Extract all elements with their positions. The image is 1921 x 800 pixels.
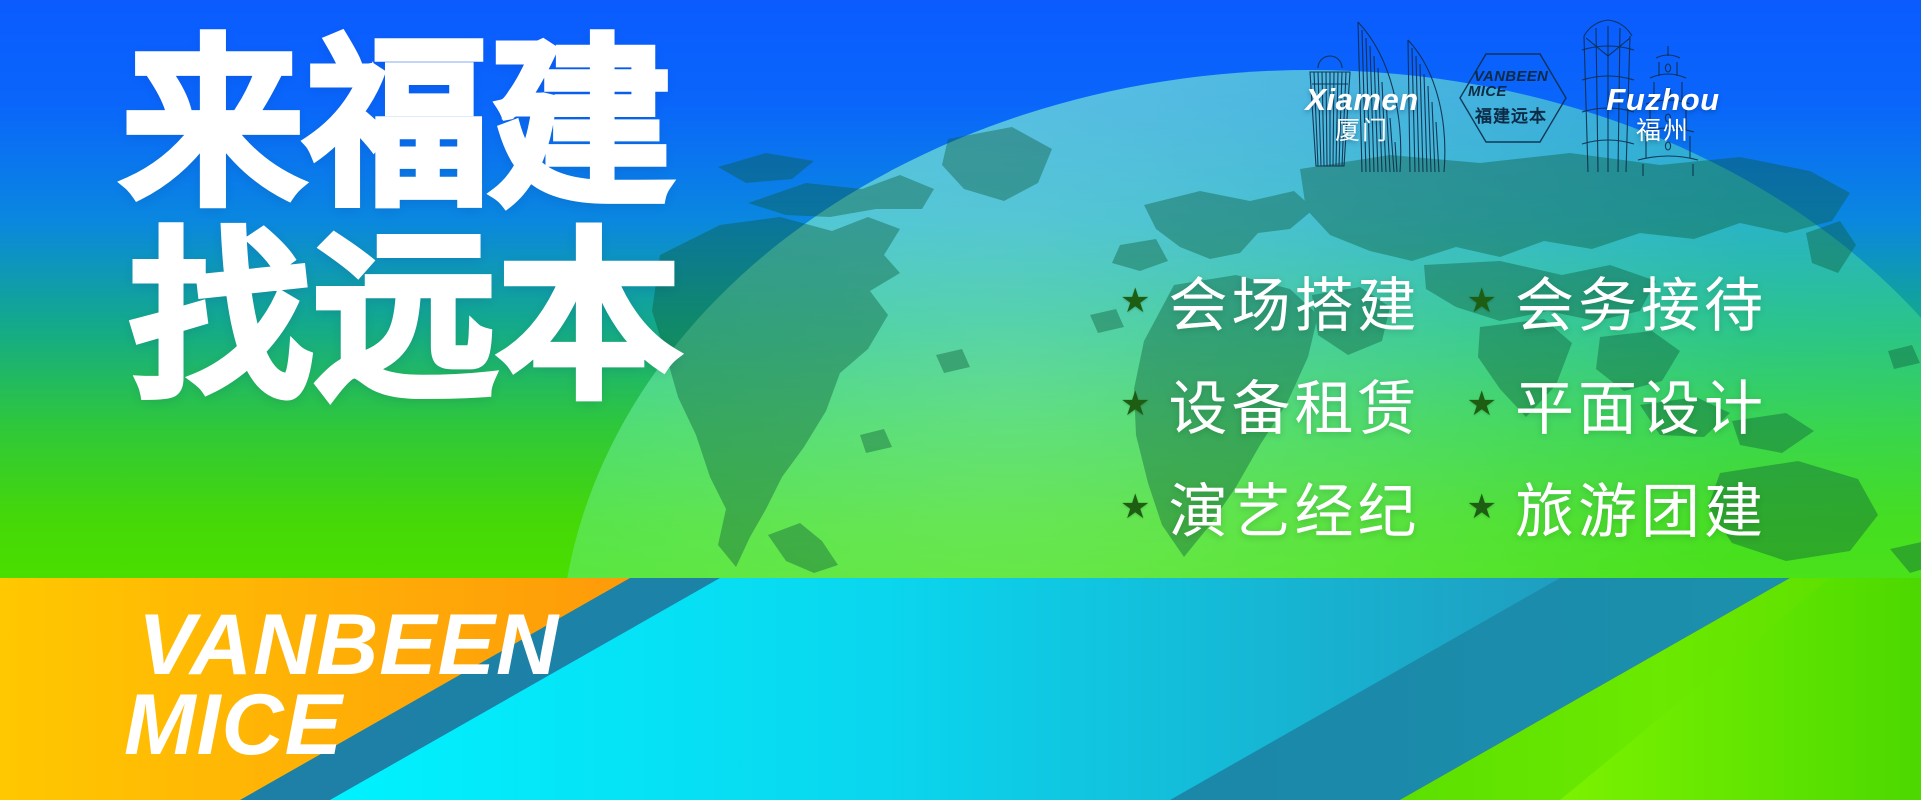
city-label-fuzhou: Fuzhou 福州	[1568, 84, 1758, 143]
footer-brand-line-1: VANBEEN	[138, 606, 559, 686]
city-name-cn: 厦门	[1272, 118, 1452, 144]
star-icon: ★	[1467, 387, 1497, 421]
star-icon: ★	[1467, 490, 1497, 524]
promotional-banner: 来福建 找远本 ★ 会场搭建 ★ 会务接待 ★ 设备租赁 ★ 平面设计 ★	[0, 0, 1921, 800]
city-name-cn: 福州	[1568, 118, 1758, 144]
banner-top-section: 来福建 找远本 ★ 会场搭建 ★ 会务接待 ★ 设备租赁 ★ 平面设计 ★	[0, 0, 1921, 578]
headline: 来福建 找远本	[122, 38, 682, 405]
city-landmark-bar: Xiamen 厦门 Fuzhou 福州 VANBEEN MICE 福建远本	[1300, 6, 1720, 176]
service-item[interactable]: ★ 会场搭建	[1120, 258, 1421, 343]
service-item[interactable]: ★ 演艺经纪	[1120, 464, 1421, 549]
service-label: 设备租赁	[1168, 361, 1420, 446]
service-label: 演艺经纪	[1168, 464, 1420, 549]
headline-line-1: 来福建	[122, 38, 682, 213]
star-icon: ★	[1467, 284, 1497, 318]
star-icon: ★	[1120, 387, 1150, 421]
headline-line-2: 找远本	[130, 231, 682, 406]
city-name-en: Xiamen	[1272, 84, 1452, 116]
service-label: 旅游团建	[1515, 464, 1767, 549]
service-item[interactable]: ★ 会务接待	[1467, 258, 1768, 343]
city-name-en: Fuzhou	[1568, 84, 1758, 116]
service-item[interactable]: ★ 平面设计	[1467, 361, 1768, 446]
service-item[interactable]: ★ 设备租赁	[1120, 361, 1421, 446]
services-list: ★ 会场搭建 ★ 会务接待 ★ 设备租赁 ★ 平面设计 ★ 演艺经纪 ★ 旅游团…	[1120, 258, 1767, 549]
banner-footer-band: VANBEEN MICE	[0, 578, 1921, 800]
city-label-xiamen: Xiamen 厦门	[1272, 84, 1452, 143]
service-item[interactable]: ★ 旅游团建	[1467, 464, 1768, 549]
hex-logo-line-3: 福建远本	[1475, 102, 1547, 127]
service-label: 平面设计	[1515, 361, 1767, 446]
hex-logo-line-1: VANBEEN	[1474, 69, 1548, 84]
footer-brand: VANBEEN MICE	[138, 606, 559, 766]
star-icon: ★	[1120, 284, 1150, 318]
star-icon: ★	[1120, 490, 1150, 524]
hexagon-logo[interactable]: VANBEEN MICE 福建远本	[1452, 50, 1570, 146]
service-label: 会场搭建	[1168, 258, 1420, 343]
service-label: 会务接待	[1515, 258, 1767, 343]
hex-logo-line-2: MICE	[1468, 84, 1507, 99]
footer-brand-line-2: MICE	[124, 686, 559, 766]
